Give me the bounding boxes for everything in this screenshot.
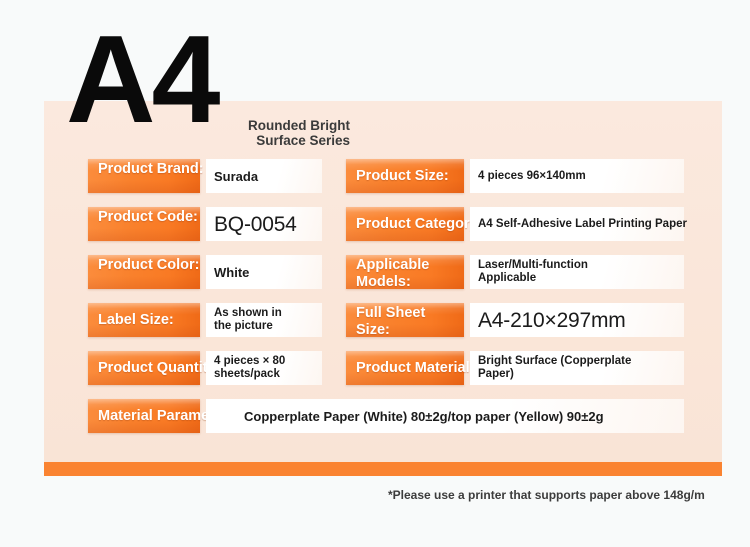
value-box-full-sheet-size: A4-210×297mm [470,303,684,337]
value-box-product-category: A4 Self-Adhesive Label Printing Paper [470,207,684,241]
table-row: Product Category: A4 Self-Adhesive Label… [346,207,684,241]
value-box-product-material: Bright Surface (Copperplate Paper) [470,351,684,385]
value-box-material-parameters: Copperplate Paper (White) 80±2g/top pape… [206,399,684,433]
series-subtitle: Rounded Bright Surface Series [150,119,350,148]
table-row: Material Parameters: Copperplate Paper (… [88,399,684,433]
value-box-product-color: White [206,255,322,289]
footer-note: *Please use a printer that supports pape… [388,488,705,502]
value-product-code: BQ-0054 [206,213,297,236]
label-chip-product-category [346,207,464,241]
label-chip-label-size [88,303,200,337]
value-box-product-code: BQ-0054 [206,207,322,241]
label-chip-applicable-models [346,255,464,289]
table-row: Product Size: 4 pieces 96×140mm [346,159,684,193]
bottom-accent-bar [44,462,722,476]
label-chip-product-material [346,351,464,385]
label-chip-product-color [88,255,200,289]
label-chip-product-size [346,159,464,193]
table-row: Product Material: Bright Surface (Copper… [346,351,684,385]
value-box-applicable-models: Laser/Multi-function Applicable [470,255,684,289]
value-product-quantity: 4 pieces × 80 sheets/pack [206,355,285,381]
value-box-label-size: As shown in the picture [206,303,322,337]
series-subtitle-line1: Rounded Bright [150,119,350,134]
label-chip-product-brand [88,159,200,193]
label-chip-product-code [88,207,200,241]
value-box-product-brand: Surada [206,159,322,193]
value-applicable-models: Laser/Multi-function Applicable [470,259,588,285]
table-row: Product Color: White [88,255,322,289]
table-row: Product Brand: Surada [88,159,322,193]
value-product-category: A4 Self-Adhesive Label Printing Paper [470,218,687,231]
table-row: Label Size: As shown in the picture [88,303,322,337]
label-chip-product-quantity [88,351,200,385]
value-full-sheet-size: A4-210×297mm [470,309,626,332]
label-chip-material-parameters [88,399,200,433]
value-material-parameters: Copperplate Paper (White) 80±2g/top pape… [206,409,604,424]
series-subtitle-line2: Surface Series [150,134,350,149]
label-chip-full-sheet-size [346,303,464,337]
product-spec-sheet: Product Brand: Surada Product Size: 4 pi… [0,0,750,547]
value-product-brand: Surada [206,169,258,184]
spec-grid: Product Brand: Surada Product Size: 4 pi… [44,101,722,476]
value-product-color: White [206,265,249,280]
value-product-material: Bright Surface (Copperplate Paper) [470,355,631,381]
table-row: Product Quantity: 4 pieces × 80 sheets/p… [88,351,322,385]
spec-card: Product Brand: Surada Product Size: 4 pi… [44,101,722,476]
value-product-size: 4 pieces 96×140mm [470,170,586,183]
table-row: Product Code: BQ-0054 [88,207,322,241]
value-box-product-quantity: 4 pieces × 80 sheets/pack [206,351,322,385]
table-row: Applicable Models: Laser/Multi-function … [346,255,684,289]
value-box-product-size: 4 pieces 96×140mm [470,159,684,193]
table-row: Full Sheet Size: A4-210×297mm [346,303,684,337]
value-label-size: As shown in the picture [206,307,282,333]
